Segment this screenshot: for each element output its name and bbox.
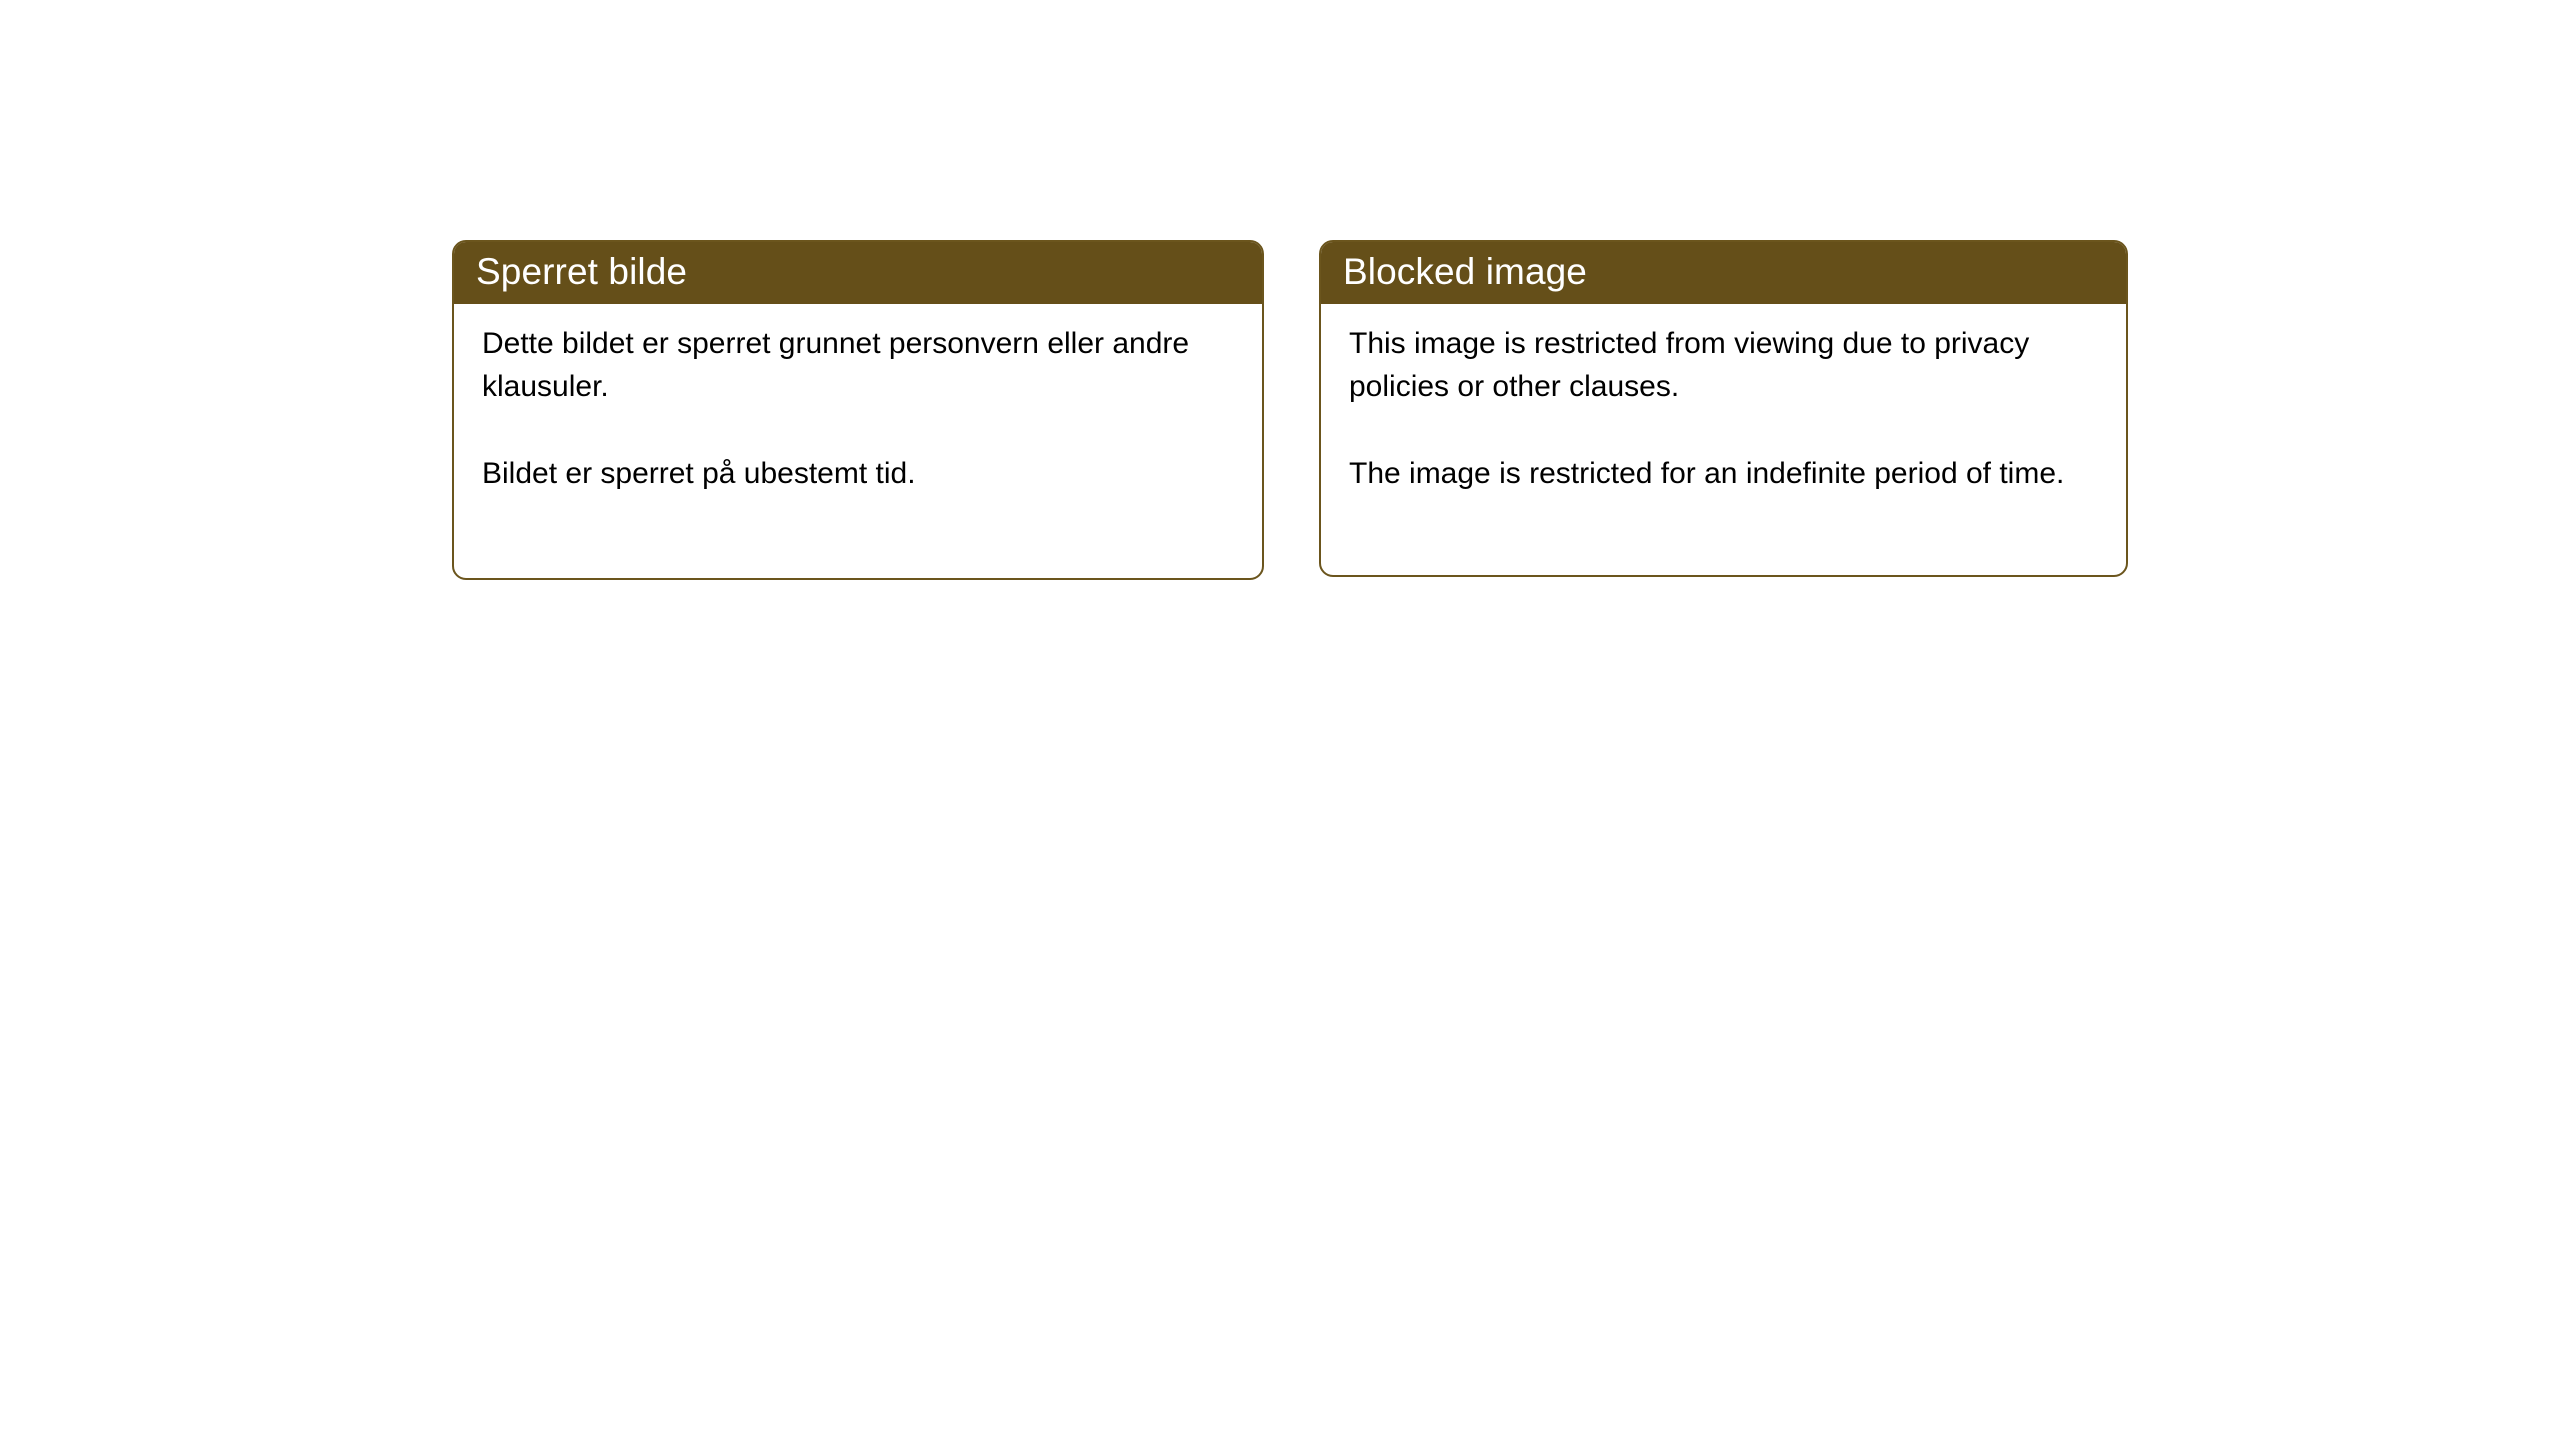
card-header-norwegian: Sperret bilde: [452, 240, 1264, 304]
blocked-image-notice-norwegian: Sperret bilde Dette bildet er sperret gr…: [452, 240, 1264, 580]
card-paragraph-reason-norwegian: Dette bildet er sperret grunnet personve…: [482, 322, 1212, 408]
card-paragraph-reason-english: This image is restricted from viewing du…: [1349, 322, 2100, 408]
card-title-norwegian: Sperret bilde: [476, 253, 687, 292]
card-body-norwegian: Dette bildet er sperret grunnet personve…: [454, 304, 1262, 515]
card-paragraph-duration-norwegian: Bildet er sperret på ubestemt tid.: [482, 452, 1212, 495]
card-title-english: Blocked image: [1343, 253, 1587, 292]
card-header-english: Blocked image: [1319, 240, 2128, 304]
page-canvas: Sperret bilde Dette bildet er sperret gr…: [0, 0, 2560, 1440]
card-body-english: This image is restricted from viewing du…: [1321, 304, 2126, 515]
card-paragraph-duration-english: The image is restricted for an indefinit…: [1349, 452, 2100, 495]
blocked-image-notice-english: Blocked image This image is restricted f…: [1319, 240, 2128, 577]
